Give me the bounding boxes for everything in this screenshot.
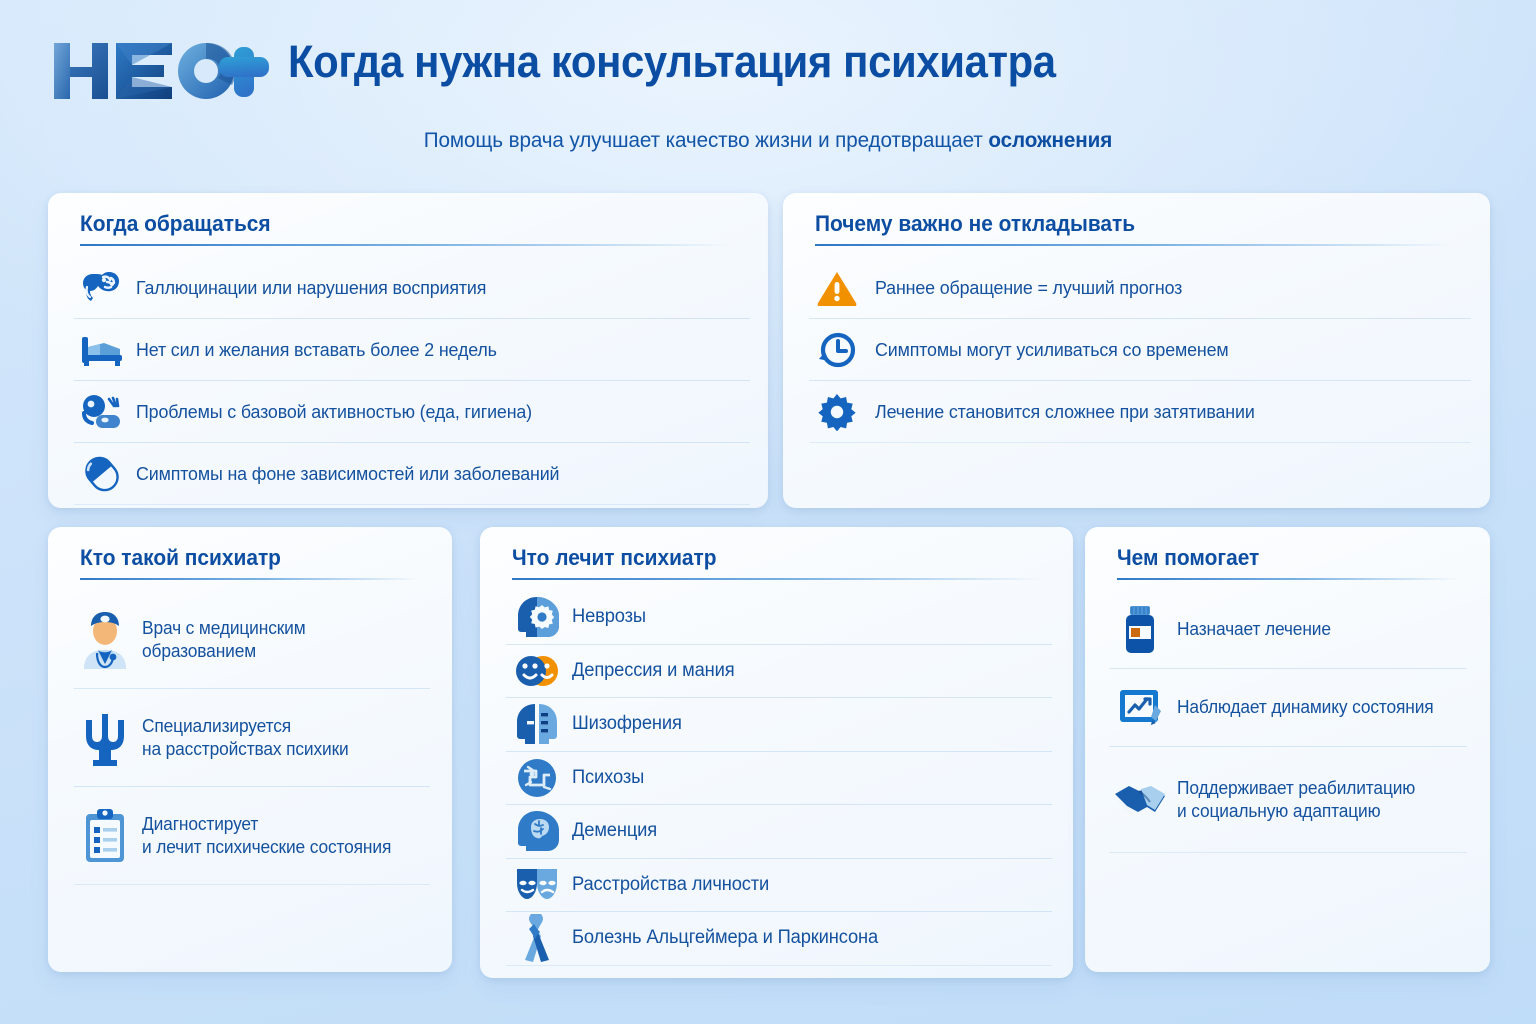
list-item[interactable]: Врач с медицинским образованием [74,591,430,689]
list-item[interactable]: Болезнь Альцгеймера и Паркинсона [506,912,1052,966]
two-faces-icon [506,652,568,690]
list-item-label: Раннее обращение = лучший прогноз [875,276,1182,299]
list-item-line1: Врач с медицинским [142,617,306,640]
awareness-ribbon-icon [506,914,568,962]
list-item-label: Поддерживает реабилитацию и социальную а… [1177,777,1415,822]
list-item-line1: Поддерживает реабилитацию [1177,777,1415,800]
pill-bottle-icon [1109,604,1171,656]
card-title: Кто такой психиатр [80,545,281,571]
card-title-rule [1117,578,1459,580]
list-item[interactable]: Деменция [506,805,1052,859]
card-item-list: Раннее обращение = лучший прогноз Симпто… [809,257,1471,443]
list-item[interactable]: Психозы [506,752,1052,806]
gear-icon [809,393,865,431]
list-item[interactable]: Галлюцинации или нарушения восприятия [74,257,750,319]
list-item-line2: и социальную адаптацию [1177,800,1415,823]
chart-board-icon [1109,686,1171,730]
card-title-rule [80,578,420,580]
card-title-rule [815,244,1455,246]
list-item-label: Лечение становится сложнее при затятиван… [875,400,1255,423]
subtitle-plain: Помощь врача улучшает качество жизни и п… [424,128,989,152]
psi-symbol-icon [74,710,136,766]
subtitle-accent: осложнения [988,128,1112,152]
head-brain-icon [506,809,568,853]
list-item[interactable]: Проблемы с базовой активностью (еда, гиг… [74,381,750,443]
list-item[interactable]: Неврозы [506,591,1052,645]
list-item-label: Болезнь Альцгеймера и Паркинсона [572,926,878,950]
list-item-label: Назначает лечение [1177,618,1331,641]
list-item[interactable]: Симптомы могут усиливаться со временем [809,319,1471,381]
list-item[interactable]: Симптомы на фоне зависимостей или заболе… [74,443,750,505]
clipboard-icon [74,808,136,864]
card-title: Что лечит психиатр [512,545,717,571]
list-item[interactable]: Лечение становится сложнее при затятиван… [809,381,1471,443]
list-item-line2: и лечит психические состояния [142,836,391,859]
list-item[interactable]: Поддерживает реабилитацию и социальную а… [1109,747,1467,853]
hygiene-food-icon [74,393,130,431]
warning-triangle-icon [809,270,865,306]
capsule-pill-icon [74,453,130,495]
brain-icon [74,269,130,307]
split-head-icon [506,702,568,746]
list-item-label: Симптомы могут усиливаться со временем [875,338,1229,361]
list-item[interactable]: Специализируется на расстройствах психик… [74,689,430,787]
list-item-label: Шизофрения [572,712,682,736]
card-item-list: Неврозы Депрессия и мания [506,591,1052,966]
list-item-label: Специализируется на расстройствах психик… [142,715,349,760]
bed-icon [74,333,130,367]
list-item[interactable]: Диагностирует и лечит психические состоя… [74,787,430,885]
list-item[interactable]: Шизофрения [506,698,1052,752]
list-item-label: Галлюцинации или нарушения восприятия [136,276,486,299]
list-item-label: Деменция [572,819,657,843]
doctor-icon [74,609,136,671]
neo-plus-logo [48,33,276,109]
list-item-line1: Назначает лечение [1177,618,1331,641]
list-item[interactable]: Назначает лечение [1109,591,1467,669]
infographic-page: Когда нужна консультация психиатра Помощ… [0,0,1536,1024]
card-item-list: Врач с медицинским образованием Специали… [74,591,430,885]
list-item[interactable]: Расстройства личности [506,859,1052,913]
card-why-not-delay: Почему важно не откладывать Раннее обращ… [783,193,1490,508]
card-title: Чем помогает [1117,545,1259,571]
card-when-to-seek-help: Когда обращаться Галлюцинации или наруше… [48,193,768,508]
page-header: Когда нужна консультация психиатра Помощ… [0,0,1536,176]
list-item-label: Диагностирует и лечит психические состоя… [142,813,391,858]
clock-arrow-icon [809,330,865,370]
list-item-label: Нет сил и желания вставать более 2 недел… [136,338,497,361]
list-item-line2: образованием [142,640,306,663]
list-item-label: Наблюдает динамику состояния [1177,696,1434,719]
handshake-icon [1109,780,1171,820]
card-who-is-psychiatrist: Кто такой психиатр [48,527,452,972]
list-item[interactable]: Наблюдает динамику состояния [1109,669,1467,747]
head-maze-icon [506,757,568,799]
list-item-label: Симптомы на фоне зависимостей или заболе… [136,462,559,485]
head-gear-icon [506,595,568,639]
list-item[interactable]: Депрессия и мания [506,645,1052,699]
list-item-label: Расстройства личности [572,873,769,897]
card-title: Когда обращаться [80,211,271,237]
list-item[interactable]: Раннее обращение = лучший прогноз [809,257,1471,319]
list-item-label: Врач с медицинским образованием [142,617,306,662]
list-item-label: Неврозы [572,605,646,629]
card-item-list: Назначает лечение Наблюдает динамику со [1109,591,1467,853]
card-title-rule [512,578,1044,580]
page-title: Когда нужна консультация психиатра [288,36,1056,88]
card-title-rule [80,244,732,246]
list-item-line1: Наблюдает динамику состояния [1177,696,1434,719]
page-subtitle: Помощь врача улучшает качество жизни и п… [31,128,1506,153]
list-item-label: Проблемы с базовой активностью (еда, гиг… [136,400,532,423]
card-title: Почему важно не откладывать [815,211,1135,237]
card-what-psychiatrist-treats: Что лечит психиатр Неврозы [480,527,1073,978]
card-how-helps: Чем помогает Назначает лечение [1085,527,1490,972]
list-item-line1: Диагностирует [142,813,391,836]
list-item-line2: на расстройствах психики [142,738,349,761]
card-item-list: Галлюцинации или нарушения восприятия Не… [74,257,750,505]
list-item-label: Депрессия и мания [572,659,735,683]
list-item-label: Психозы [572,766,644,790]
theater-masks-icon [506,867,568,903]
list-item[interactable]: Нет сил и желания вставать более 2 недел… [74,319,750,381]
list-item-line1: Специализируется [142,715,349,738]
